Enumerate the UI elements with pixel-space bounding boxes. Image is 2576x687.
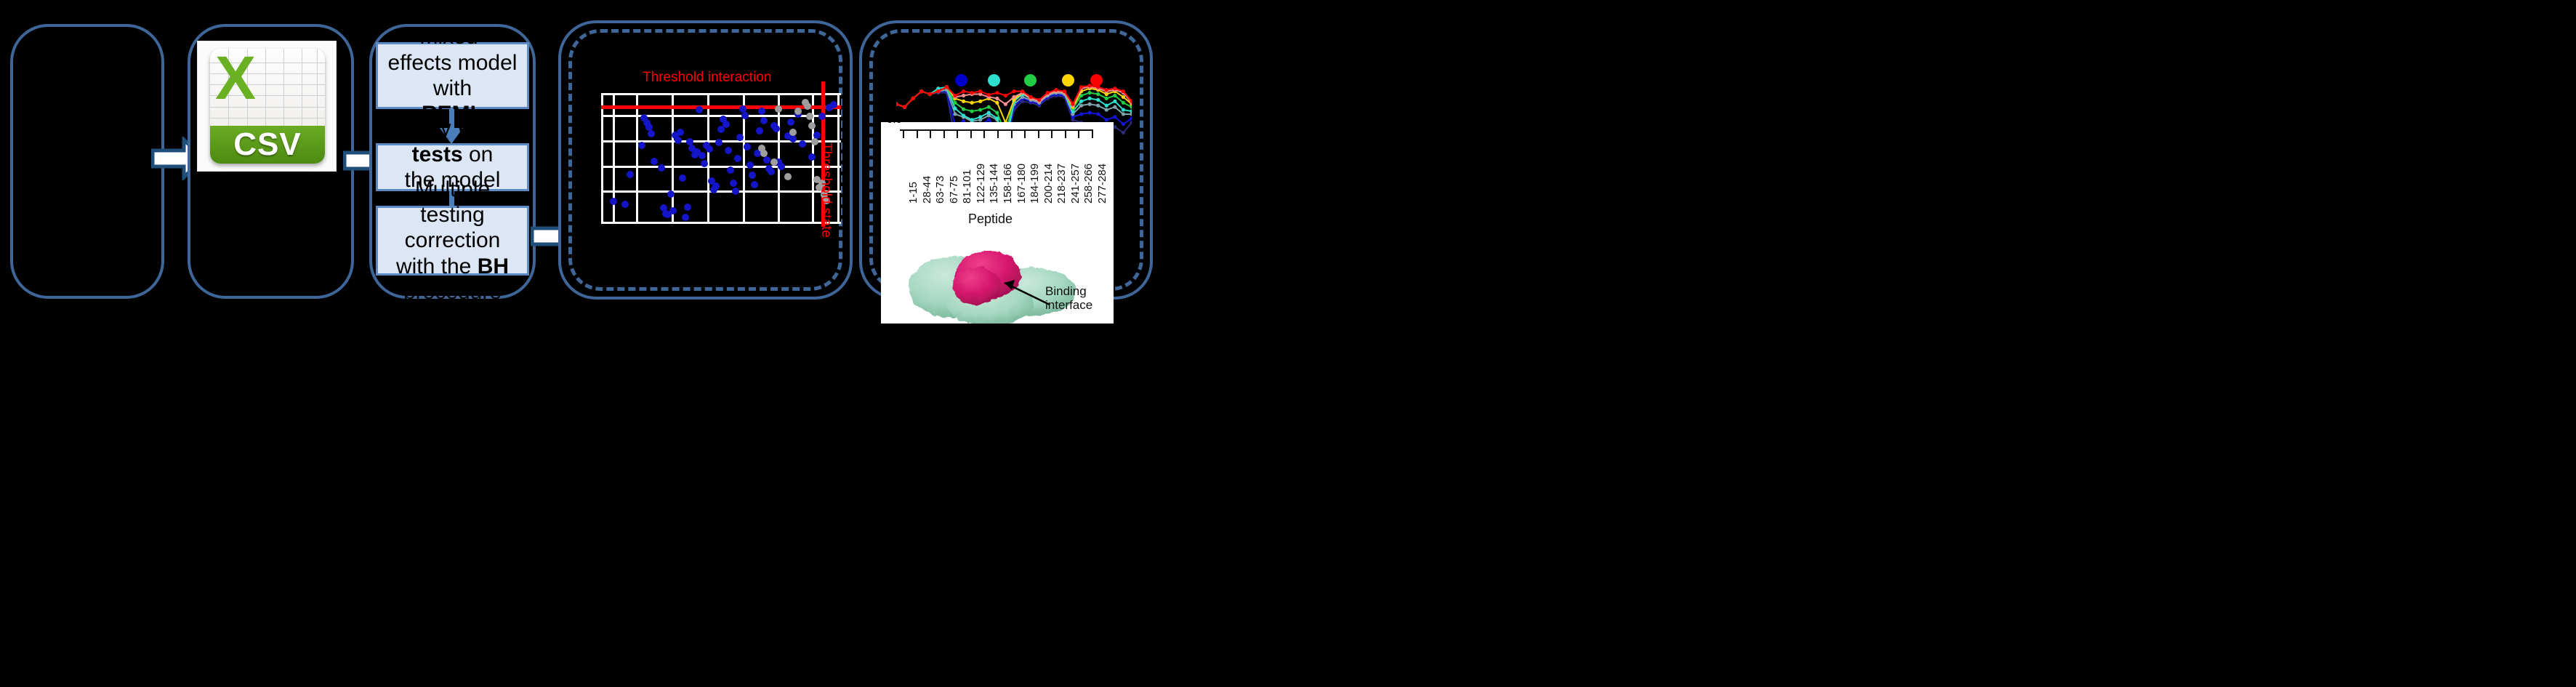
x-axis-tick-label: 277-284 — [1096, 164, 1108, 204]
scatter-point — [696, 106, 703, 113]
threshold-interaction-label: Threshold interaction — [643, 70, 771, 86]
scatter-point — [730, 180, 737, 187]
profile-marker — [1088, 103, 1092, 106]
csv-image-frame: X CSV — [198, 41, 336, 171]
scatter-point — [727, 166, 734, 174]
scatter-point — [725, 147, 732, 154]
profile-marker — [1096, 98, 1100, 102]
profile-marker — [1088, 97, 1092, 100]
peptide-structure-card[interactable]: 0.0 1-1528-4463-7367-7581-101122-129135-… — [881, 122, 1114, 324]
x-axis-tick-label: 135-144 — [988, 164, 1000, 204]
profile-marker — [987, 93, 991, 97]
csv-label-band: CSV — [210, 126, 325, 164]
x-axis-tick — [970, 130, 972, 138]
profile-marker — [962, 108, 965, 111]
profile-marker — [1122, 108, 1125, 111]
x-axis-tick-label: 158-166 — [1002, 164, 1014, 204]
profile-marker — [1029, 95, 1033, 99]
x-axis-tick-label: 81-101 — [961, 169, 973, 204]
profile-marker — [1088, 91, 1092, 95]
scatter-point — [799, 140, 806, 148]
x-axis-tick — [957, 130, 958, 138]
scatter-point — [699, 152, 706, 159]
x-axis-tick — [1038, 130, 1039, 138]
step3-prefix: with the — [396, 254, 478, 278]
scatter-point — [723, 121, 730, 128]
profile-marker — [987, 105, 991, 109]
scatter-point — [778, 163, 785, 170]
scatter-point — [768, 168, 775, 175]
profile-marker — [995, 97, 999, 100]
profile-marker — [1088, 111, 1092, 114]
legend-dot-series-1[interactable] — [955, 74, 967, 87]
scatter-point — [677, 129, 684, 136]
profile-marker — [970, 101, 974, 105]
profile-marker — [970, 118, 974, 121]
step3-line1: Multiple testing — [415, 177, 490, 227]
scatter-point — [648, 130, 655, 137]
scatter-point — [732, 188, 739, 195]
profile-marker — [1079, 104, 1083, 108]
x-axis-tick — [1065, 130, 1066, 138]
x-axis-tick — [903, 130, 904, 138]
x-axis-tick — [983, 130, 985, 138]
gridline-v — [672, 93, 674, 224]
profile-marker — [1122, 89, 1125, 93]
step3-suffix: procedure — [403, 280, 502, 304]
scatter-point — [744, 143, 751, 150]
scatter-point — [679, 174, 686, 182]
profile-marker — [1096, 112, 1100, 116]
profile-marker — [962, 113, 965, 117]
x-axis-tick — [917, 130, 918, 138]
scatter-point — [667, 190, 675, 198]
profile-marker — [953, 112, 957, 116]
profile-marker — [1122, 122, 1125, 126]
scatter-point — [787, 118, 794, 126]
scatter-point — [751, 181, 758, 188]
x-axis-tick-label: 1-15 — [907, 182, 919, 204]
x-axis-tick-label: 28-44 — [921, 176, 933, 204]
scatter-point — [651, 158, 658, 165]
x-axis-tick-label: 67-75 — [948, 176, 960, 204]
profile-marker — [1021, 89, 1024, 93]
scatter-point — [818, 113, 826, 120]
profile-marker — [1046, 91, 1050, 95]
scatter-point — [638, 142, 645, 149]
profile-marker — [1122, 112, 1125, 116]
profile-marker — [1105, 118, 1108, 121]
scatter-point — [682, 214, 689, 221]
profile-marker — [945, 85, 949, 89]
profile-marker — [1096, 92, 1100, 96]
callout-line2: interface — [1045, 298, 1092, 312]
profile-marker — [1012, 89, 1015, 93]
x-axis-tick — [1092, 130, 1093, 138]
profile-marker — [987, 118, 991, 121]
scatter-point — [760, 117, 768, 124]
scatter-point — [669, 207, 677, 214]
scatter-point — [773, 125, 780, 132]
profile-marker — [962, 100, 965, 103]
profile-marker — [970, 91, 974, 95]
step-fit-model[interactable]: Fit a linear mixed- effects model with R… — [376, 42, 529, 109]
x-axis-tick — [1051, 130, 1052, 138]
profile-marker — [995, 91, 999, 95]
scatter-point — [763, 156, 770, 164]
x-axis-tick-label: 218-237 — [1055, 164, 1068, 204]
profile-marker — [1105, 88, 1108, 92]
profile-marker — [1105, 108, 1108, 111]
profile-marker — [1071, 103, 1074, 106]
gridline-v — [707, 93, 709, 224]
x-axis-tick-label: 122-129 — [975, 164, 987, 204]
scatter-point — [756, 127, 763, 134]
scatter-point — [627, 171, 634, 178]
x-axis-tick-label: 63-73 — [934, 176, 946, 204]
scatter-point — [706, 145, 713, 153]
profile-marker — [978, 115, 982, 118]
profile-marker — [995, 111, 999, 114]
profile-marker — [1037, 98, 1041, 102]
x-axis-tick-label: 200-214 — [1042, 164, 1055, 204]
step2-suffix: on — [463, 142, 494, 166]
x-axis-tick — [930, 130, 931, 138]
scatter-point — [610, 198, 617, 205]
profile-marker — [1122, 101, 1125, 105]
gridline-v — [837, 93, 840, 224]
csv-label: CSV — [233, 126, 301, 163]
profile-marker — [978, 108, 982, 111]
profile-marker — [928, 92, 932, 96]
x-axis-tick — [1011, 130, 1013, 138]
x-axis-tick-label: 258-266 — [1082, 164, 1095, 204]
profile-marker — [1004, 103, 1007, 106]
scatter-point — [758, 108, 765, 115]
profile-marker — [936, 89, 940, 93]
x-axis-title: Peptide — [968, 212, 1013, 227]
scatter-point — [621, 201, 629, 208]
legend-dot-series-5[interactable] — [1090, 74, 1103, 87]
profile-marker — [919, 89, 923, 93]
callout-line1: Binding — [1045, 284, 1092, 298]
scatter-point — [804, 103, 811, 110]
profile-marker — [1079, 100, 1083, 103]
profile-marker — [1122, 131, 1125, 134]
step2-prefix: Apply — [397, 116, 457, 140]
profile-marker — [1113, 105, 1116, 109]
x-axis-tick — [943, 130, 945, 138]
scatter-point — [684, 204, 691, 211]
gridline-v — [636, 93, 638, 224]
scatter-point — [749, 172, 756, 179]
excel-x-letter: X — [215, 49, 256, 108]
scatter-point — [808, 122, 816, 129]
profile-marker — [970, 109, 974, 113]
y-axis-zero-label: 0.0 — [887, 122, 902, 126]
scatter-point — [734, 155, 741, 162]
scatter-point — [746, 161, 754, 169]
x-axis-tick — [1078, 130, 1079, 138]
profile-marker — [1096, 104, 1100, 108]
x-axis-tick — [1024, 130, 1026, 138]
profile-marker — [1113, 115, 1116, 118]
profile-marker — [1113, 87, 1116, 90]
profile-marker — [1122, 95, 1125, 99]
profile-marker — [896, 103, 898, 106]
scatter-point — [741, 112, 749, 119]
scatter-point — [808, 153, 816, 161]
x-axis-tick-label: 241-257 — [1069, 164, 1082, 204]
profile-marker — [1113, 100, 1116, 103]
scatter-point — [715, 139, 723, 146]
legend-dot-series-2[interactable] — [988, 74, 1000, 87]
profile-marker — [1063, 89, 1066, 93]
profile-marker — [953, 94, 957, 97]
profile-marker — [1105, 104, 1108, 108]
profile-marker — [953, 107, 957, 111]
profile-marker — [1012, 95, 1015, 99]
scatter-point — [675, 137, 682, 144]
scatter-point — [770, 158, 778, 166]
profile-marker — [978, 100, 982, 103]
scatter-point — [784, 173, 792, 180]
profile-marker — [1088, 84, 1092, 87]
scatter-point — [658, 164, 665, 172]
profile-marker — [962, 94, 965, 97]
profile-marker — [987, 111, 991, 114]
step1-line2: effects model with — [388, 51, 518, 100]
profile-marker — [1079, 112, 1083, 116]
profile-marker — [1130, 109, 1132, 113]
step1-line1: Fit a linear mixed- — [401, 0, 503, 49]
profile-marker — [1113, 94, 1116, 97]
profile-marker — [1004, 94, 1007, 97]
scatter-point — [775, 105, 782, 113]
step3-bold-bh: BH — [478, 254, 509, 278]
step-bh-correction[interactable]: Multiple testing correction with the BH … — [376, 206, 529, 276]
threshold-state-label: Threshold state — [818, 142, 834, 238]
profile-marker — [1054, 88, 1058, 92]
scatter-point — [789, 129, 797, 136]
legend-dot-series-4[interactable] — [1062, 74, 1074, 87]
profile-marker — [911, 97, 915, 100]
step3-line2: correction — [405, 228, 501, 252]
binding-interface-callout: Binding interface — [1045, 284, 1092, 312]
x-axis-tick-label: 184-199 — [1029, 164, 1041, 204]
csv-file-icon[interactable]: X CSV — [210, 49, 325, 164]
profile-marker — [962, 89, 965, 93]
stage-input-panel[interactable] — [10, 24, 164, 299]
profile-marker — [978, 89, 982, 93]
profile-marker — [1113, 125, 1116, 129]
profile-marker — [1105, 97, 1108, 100]
scatter-point — [794, 108, 802, 115]
x-axis-tick-label: 167-180 — [1015, 164, 1028, 204]
scatter-point — [789, 135, 797, 142]
gridline-v — [601, 93, 603, 224]
profile-marker — [953, 101, 957, 105]
profile-marker — [1079, 85, 1083, 89]
x-axis-tick — [997, 130, 999, 138]
threshold-scatter-plot[interactable] — [601, 93, 841, 224]
profile-marker — [903, 105, 906, 109]
profile-marker — [995, 101, 999, 105]
legend-dot-series-3[interactable] — [1024, 74, 1037, 87]
scatter-point — [712, 182, 720, 190]
